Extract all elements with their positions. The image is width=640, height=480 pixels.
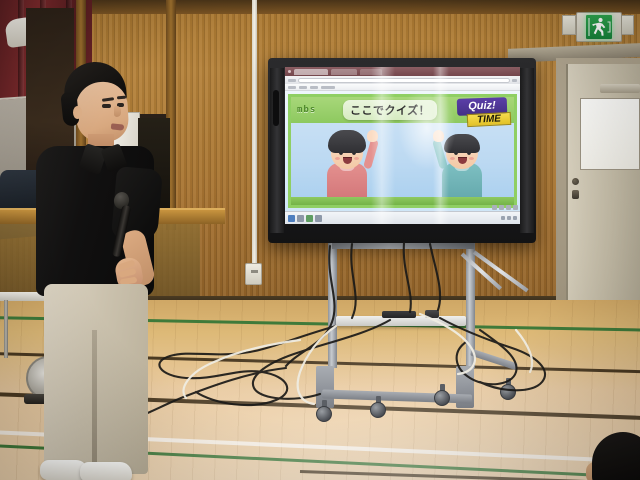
presenter-nose — [114, 106, 121, 117]
presenter-eye — [102, 104, 111, 108]
menu-icon[interactable] — [512, 79, 517, 82]
girl-mouth — [343, 157, 352, 164]
os-taskbar[interactable] — [285, 211, 520, 224]
caster-wheel-rear-right — [500, 384, 516, 400]
browser-toolbar — [285, 76, 520, 84]
browser-tab[interactable] — [360, 69, 382, 75]
ribbon-item[interactable] — [310, 86, 318, 89]
ribbon-item[interactable] — [288, 86, 296, 89]
presenter-person — [18, 62, 168, 480]
presenter-mouth — [111, 123, 125, 130]
status-icon[interactable] — [506, 205, 511, 210]
app-status-icons — [492, 205, 518, 210]
ribbon-item[interactable] — [321, 86, 335, 89]
presenter-ear — [73, 106, 82, 119]
wall-power-outlet[interactable] — [245, 263, 262, 285]
app-ribbon — [285, 84, 520, 91]
caster-wheel-front-mid — [370, 402, 386, 418]
exit-running-person-icon — [586, 15, 612, 39]
table-leg — [4, 300, 8, 358]
presenter-shoe-right — [80, 462, 132, 480]
girl-cheek — [354, 157, 359, 160]
back-icon[interactable] — [288, 79, 296, 82]
app-icon[interactable] — [315, 215, 322, 222]
gymnasium-presentation-scene: mbs ここでクイズ！ Quiz! TIME — [0, 0, 640, 480]
taskbar-left-icons — [288, 215, 322, 222]
wall-conduit-pipe — [252, 0, 257, 265]
girl-hair — [328, 130, 366, 153]
window-dot — [288, 70, 291, 73]
mbs-logo: mbs — [297, 105, 316, 115]
boy-cheek — [450, 157, 455, 160]
girl-cheek — [335, 157, 340, 160]
boy-hair — [444, 134, 480, 153]
browser-titlebar — [285, 67, 520, 76]
flat-panel-display[interactable]: mbs ここでクイズ！ Quiz! TIME — [268, 58, 536, 243]
status-icon[interactable] — [499, 205, 504, 210]
boy-mouth — [458, 157, 467, 164]
display-bezel-right — [520, 68, 534, 233]
status-icon[interactable] — [513, 205, 518, 210]
door-closer-arm — [600, 84, 640, 93]
display-speaker — [273, 90, 279, 126]
start-icon[interactable] — [288, 215, 295, 222]
caster-wheel-front-left — [316, 406, 332, 422]
stand-post-left — [328, 240, 337, 368]
door-lock[interactable] — [572, 190, 579, 199]
slide-frame: mbs ここでクイズ！ Quiz! TIME — [288, 94, 517, 208]
stand-crossbar-top — [332, 243, 474, 249]
trouser-leg-seam — [92, 330, 97, 475]
girl-hand — [367, 130, 378, 142]
display-bezel-left — [270, 68, 284, 233]
power-strip[interactable] — [382, 311, 416, 318]
boy-hand — [433, 130, 444, 142]
url-input[interactable] — [298, 78, 510, 83]
emergency-exit-sign — [576, 12, 622, 42]
browser-tab[interactable] — [331, 69, 357, 75]
door-handle[interactable] — [572, 178, 579, 185]
tray-icon[interactable] — [501, 216, 505, 220]
door-window — [580, 98, 640, 170]
slide-character-boy — [432, 123, 494, 197]
caster-wheel-rear-mid — [434, 390, 450, 406]
power-adapter — [425, 310, 439, 318]
slide-character-girl — [317, 123, 379, 197]
display-screen[interactable]: mbs ここでクイズ！ Quiz! TIME — [285, 67, 520, 224]
slide-footer-band — [291, 197, 514, 205]
quiz-headline: ここでクイズ！ — [343, 100, 437, 120]
quiz-slide: mbs ここでクイズ！ Quiz! TIME — [285, 91, 520, 211]
tray-icon[interactable] — [507, 216, 511, 220]
wall-top-shadow — [0, 0, 640, 14]
app-icon[interactable] — [306, 215, 313, 222]
app-icon[interactable] — [297, 215, 304, 222]
exit-sign-wing-left — [562, 15, 576, 35]
ribbon-item[interactable] — [299, 86, 307, 89]
boy-cheek — [469, 157, 474, 160]
tray-icon[interactable] — [513, 216, 517, 220]
browser-tab[interactable] — [294, 69, 328, 75]
exit-sign-wing-right — [620, 15, 634, 35]
taskbar-tray — [501, 216, 517, 220]
status-icon[interactable] — [492, 205, 497, 210]
